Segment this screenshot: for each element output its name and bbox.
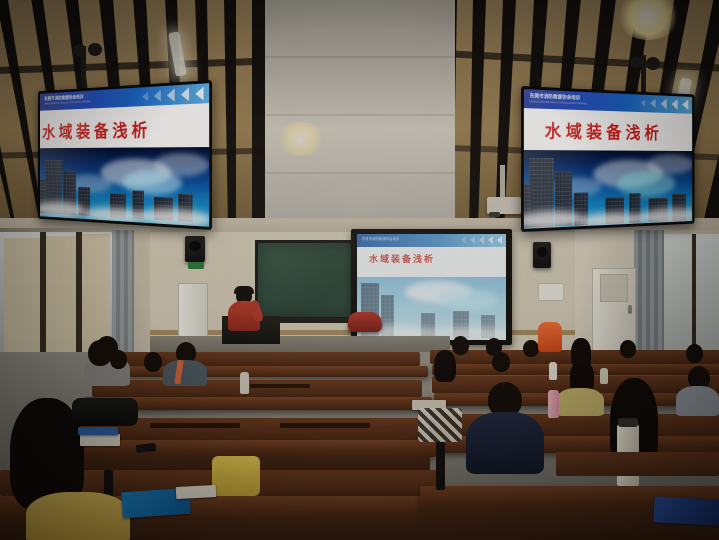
display-mount-knob — [646, 57, 660, 70]
pink-water-bottle — [548, 390, 559, 418]
book — [80, 434, 120, 446]
exit-sign — [188, 262, 204, 269]
student-body — [163, 360, 207, 386]
window-frame — [76, 232, 82, 360]
bench-slot — [150, 423, 240, 428]
student-head — [452, 336, 469, 355]
bench-slot — [280, 423, 370, 428]
bench-slot — [250, 384, 310, 388]
projected-header-title: 东莞市消防救援协会培训 — [362, 236, 399, 241]
projector-mount — [500, 165, 505, 199]
window-pane — [46, 236, 76, 356]
right-curtain — [634, 230, 664, 370]
air-conditioner — [538, 283, 564, 301]
window-pane — [4, 238, 40, 356]
thermos-small — [240, 372, 249, 394]
projector-lens-icon — [489, 212, 500, 217]
yellow-jacket — [212, 456, 260, 496]
bench-row — [556, 452, 719, 476]
student-head — [492, 352, 510, 372]
thermos-cap — [618, 418, 638, 427]
chevron-icon — [479, 236, 484, 244]
student-head — [686, 344, 703, 363]
slide-left: 东莞市消防救援协会培训 DONGGUAN FIRE RESCUE ASSOCIA… — [40, 83, 209, 227]
projected-slide-title: 水域装备浅析 — [369, 252, 435, 265]
display-mount-knob — [88, 43, 102, 56]
chevron-icon — [488, 236, 493, 244]
bench-row — [120, 352, 420, 366]
student-head — [144, 352, 162, 372]
classroom-photo: 东莞市消防救援协会培训 DONGGUAN FIRE RESCUE ASSOCIA… — [0, 0, 719, 540]
student-head — [110, 350, 127, 369]
patterned-bag — [418, 408, 462, 442]
door-handle[interactable] — [628, 305, 632, 314]
black-backpack — [72, 398, 138, 426]
student-body-navy — [466, 412, 544, 474]
right-wall-display: 东莞市消防救援协会培训 DONGGUAN FIRE RESCUE ASSOCIA… — [521, 86, 694, 232]
student-body — [676, 386, 719, 416]
slide-right: 东莞市消防救援协会培训 DONGGUAN FIRE RESCUE ASSOCIA… — [524, 89, 692, 229]
student-head — [88, 340, 112, 366]
student-head — [523, 340, 539, 357]
student-body — [556, 388, 604, 416]
white-cabinet — [178, 283, 208, 337]
left-wall-display: 东莞市消防救援协会培训 DONGGUAN FIRE RESCUE ASSOCIA… — [38, 80, 212, 230]
red-equipment-bag — [348, 312, 382, 332]
book — [176, 485, 217, 499]
presenter-cap — [234, 286, 254, 294]
window-frame — [40, 232, 46, 360]
student-head — [434, 350, 456, 382]
display-mount-knob — [73, 44, 86, 57]
wall-speaker-left — [185, 236, 205, 262]
orange-bag — [538, 322, 562, 352]
blue-book — [78, 427, 118, 435]
bench-row — [92, 380, 422, 397]
chevron-icon — [497, 236, 502, 244]
wall-speaker-right — [533, 242, 551, 268]
display-mount-knob — [630, 56, 643, 68]
projected-header-band: 东莞市消防救援协会培训 — [357, 234, 506, 247]
foreground-person-body — [26, 492, 130, 540]
water-bottle — [600, 368, 608, 384]
desk-leg — [436, 440, 445, 490]
student-head — [620, 340, 636, 358]
water-bottle — [549, 362, 557, 380]
blue-book — [653, 496, 719, 525]
door-window — [600, 274, 628, 302]
chevron-icon — [470, 236, 475, 244]
chevron-icon — [461, 236, 466, 244]
